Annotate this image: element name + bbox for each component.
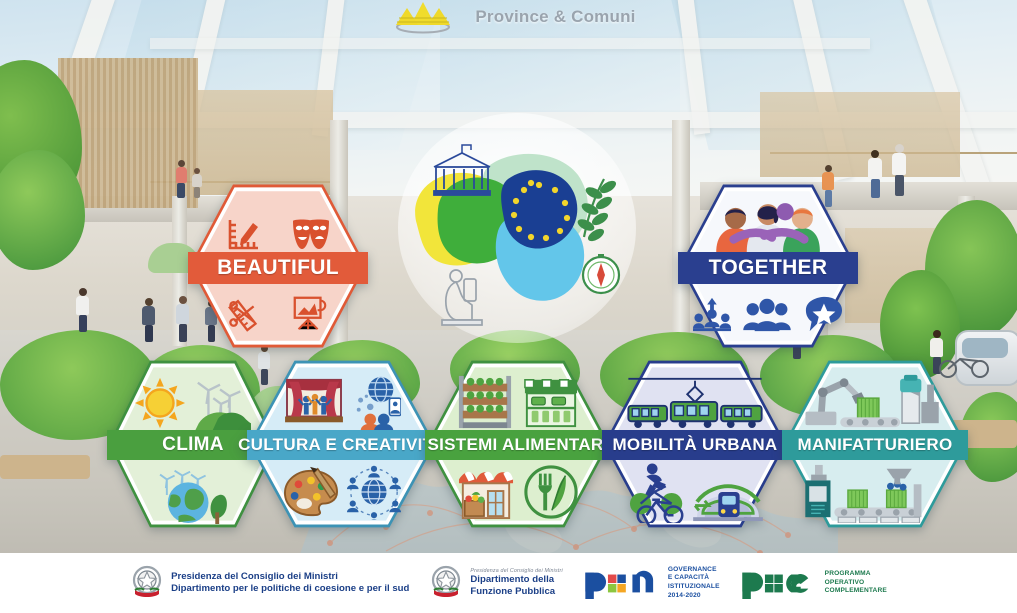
poc-subtitle: PROGRAMMA OPERATIVO COMPLEMENTARE <box>825 570 887 596</box>
pon-sub-line4: 2014-2020 <box>668 592 720 601</box>
hexagon-label-band: BEAUTIFUL <box>188 252 368 284</box>
hexagon-icons-bottom <box>782 462 968 524</box>
hexagon-icons-top <box>247 374 437 432</box>
wood-ceiling-panel <box>198 90 333 195</box>
hexagon-label: MANIFATTURIERO <box>798 435 953 455</box>
gold-crown-logo-icon <box>381 0 465 34</box>
hexagon-label: TOGETHER <box>709 256 828 280</box>
skylight-beam <box>150 38 870 49</box>
global-people-network-icon <box>345 464 403 520</box>
hexagon-label-band: TOGETHER <box>678 252 858 284</box>
bottling-line-icon <box>801 463 949 523</box>
poc-sub-line3: COMPLEMENTARE <box>825 587 887 596</box>
header-banner: Province & Comuni <box>0 0 1017 34</box>
metro-tunnel-icon <box>693 463 763 523</box>
poc-wordmark-icon <box>740 567 820 599</box>
hexagon-icons-bottom <box>188 288 368 338</box>
statue-icon <box>442 270 482 325</box>
person-figure <box>892 144 906 196</box>
market-stall-icon <box>457 464 515 520</box>
hexagon-label: CLIMA <box>162 434 224 456</box>
easel-artboard-icon <box>289 293 331 333</box>
footer-presidenza-line2: Dipartimento per le politiche di coesion… <box>171 583 409 595</box>
footer-funzione-tiny: Presidenza del Consiglio dei Ministri <box>470 568 562 575</box>
vertical-farm-icon <box>455 374 515 430</box>
hexagon-label: MOBILITÀ URBANA <box>612 435 777 455</box>
person-figure <box>142 298 155 342</box>
person-figure <box>868 150 882 198</box>
hexagon-beautiful[interactable]: BEAUTIFUL <box>188 182 368 350</box>
poc-sub-line1: PROGRAMMA <box>825 570 887 579</box>
hexagon-mobilita[interactable]: MOBILITÀ URBANA <box>602 358 788 530</box>
poster-canvas: Province & Comuni <box>0 0 1017 613</box>
wood-wall-right <box>760 92 960 177</box>
fork-leaf-icon <box>523 464 579 520</box>
eu-green-deal-blob-logo <box>398 113 636 343</box>
person-figure <box>76 288 89 332</box>
hexagon-cultura[interactable]: CULTURA E CREATIVITÀ <box>247 358 437 530</box>
footer-funzione-pubblica: Presidenza del Consiglio dei Ministri Di… <box>429 564 562 602</box>
hexagon-label: SISTEMI ALIMENTARI <box>427 435 608 455</box>
footer-logos: Presidenza del Consiglio dei Ministri Di… <box>0 553 1017 613</box>
footer-funzione-text: Presidenza del Consiglio dei Ministri Di… <box>470 568 562 599</box>
compass-icon <box>583 254 619 293</box>
globe-network-icon <box>351 375 401 431</box>
cyclist-icon <box>627 463 691 523</box>
person-figure <box>175 160 187 198</box>
hexagon-together[interactable]: TOGETHER <box>678 182 858 350</box>
hexagon-label-band: MOBILITÀ URBANA <box>602 430 788 460</box>
star-speech-bubble-icon <box>802 295 844 333</box>
footer-presidenza: Presidenza del Consiglio dei Ministri Di… <box>130 564 409 602</box>
pon-subtitle: GOVERNANCE E CAPACITÀ ISTITUZIONALE 2014… <box>668 566 720 601</box>
hexagon-icons-bottom <box>678 288 858 340</box>
wind-turbines-hill-icon <box>189 375 253 431</box>
footer-poc-logo: PROGRAMMA OPERATIVO COMPLEMENTARE <box>740 567 887 599</box>
hexagon-label: BEAUTIFUL <box>217 256 339 280</box>
hexagon-icons-top <box>782 372 968 430</box>
footer-presidenza-line1: Presidenza del Consiglio dei Ministri <box>171 571 409 583</box>
italian-republic-emblem-icon <box>130 564 164 602</box>
footer-funzione-line2: Funzione Pubblica <box>470 586 562 598</box>
earth-turbines-icon <box>157 462 229 524</box>
people-hugging-icon <box>678 196 858 258</box>
hexagon-icons-top <box>425 372 611 432</box>
hexagon-icons-bottom <box>425 462 611 522</box>
footer-pon-logo: GOVERNANCE E CAPACITÀ ISTITUZIONALE 2014… <box>583 566 720 601</box>
grocery-store-icon <box>521 374 581 430</box>
bench <box>0 455 90 479</box>
italian-republic-emblem-icon <box>429 564 463 602</box>
poc-sub-line2: OPERATIVO <box>825 579 887 588</box>
hexagon-label-band: SISTEMI ALIMENTARI <box>425 430 611 460</box>
hexagon-icons-bottom <box>247 462 437 522</box>
theater-masks-icon <box>287 213 333 255</box>
hexagon-label: CULTURA E CREATIVITÀ <box>238 435 446 455</box>
sun-icon <box>133 376 187 430</box>
hexagon-manifatturiero[interactable]: MANIFATTURIERO <box>782 358 968 530</box>
group-people-icon <box>741 295 793 333</box>
header-title: Province & Comuni <box>475 7 635 27</box>
team-leader-icon <box>692 295 732 333</box>
theater-stage-icon <box>283 376 345 430</box>
ruler-scissors-icon <box>225 293 267 333</box>
footer-funzione-line1: Dipartimento della <box>470 574 562 586</box>
pon-sub-line2: E CAPACITÀ <box>668 574 720 583</box>
pon-wordmark-icon <box>583 567 663 599</box>
hexagon-label-band: CULTURA E CREATIVITÀ <box>247 430 437 460</box>
ruler-pencil-icon <box>223 213 265 255</box>
footer-presidenza-text: Presidenza del Consiglio dei Ministri Di… <box>171 571 409 595</box>
paint-palette-icon <box>281 465 341 519</box>
hexagon-sistemi[interactable]: SISTEMI ALIMENTARI <box>425 358 611 530</box>
hexagon-label-band: MANIFATTURIERO <box>782 430 968 460</box>
pon-sub-line1: GOVERNANCE <box>668 566 720 575</box>
pon-sub-line3: ISTITUZIONALE <box>668 583 720 592</box>
hexagon-icons-bottom <box>602 462 788 524</box>
tram-icon <box>602 372 788 430</box>
